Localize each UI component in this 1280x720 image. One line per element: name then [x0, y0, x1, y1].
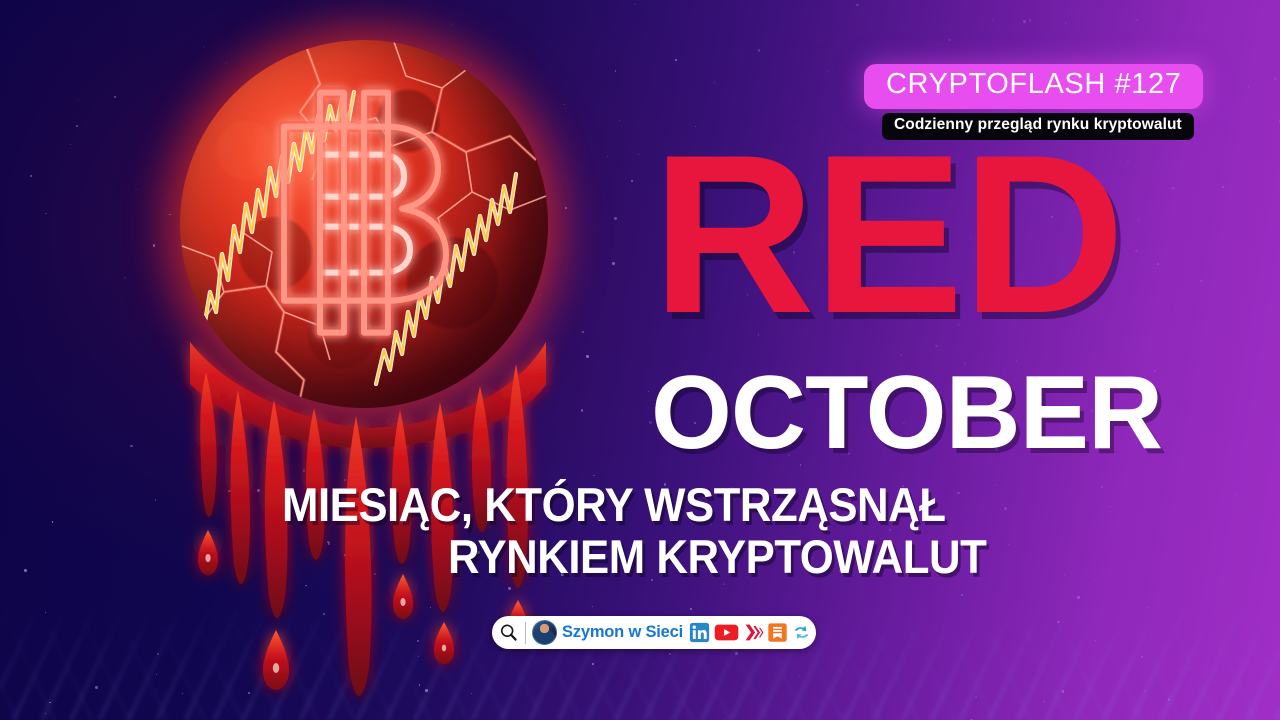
- branding-bar[interactable]: Szymon w Sieci: [492, 616, 816, 649]
- planet-sphere: [180, 40, 548, 408]
- search-button[interactable]: [498, 616, 519, 649]
- episode-badge-label: CRYPTOFLASH #127: [886, 69, 1181, 101]
- brandbar-divider: [525, 622, 526, 644]
- substack-icon[interactable]: [767, 622, 788, 643]
- bitcoin-symbol-icon: [180, 40, 548, 401]
- linkedin-icon[interactable]: [689, 622, 710, 643]
- youtube-icon[interactable]: [713, 622, 740, 643]
- headline-red: RED: [652, 137, 1123, 331]
- headline-october: OCTOBER: [651, 366, 1162, 462]
- subheadline-line-2: RYNKIEM KRYPTOWALUT: [448, 533, 986, 582]
- hive-icon[interactable]: [743, 622, 764, 643]
- exchange-icon[interactable]: [791, 622, 812, 643]
- subheadline-line-1: MIESIĄC, KTÓRY WSTRZĄSNĄŁ: [282, 481, 945, 530]
- bitcoin-planet-artwork: [128, 12, 598, 712]
- episode-badge: CRYPTOFLASH #127: [864, 64, 1203, 109]
- search-icon: [498, 622, 519, 643]
- thumbnail-canvas: CRYPTOFLASH #127 Codzienny przegląd rynk…: [0, 0, 1280, 720]
- avatar: [532, 620, 557, 645]
- brand-name: Szymon w Sieci: [562, 623, 683, 642]
